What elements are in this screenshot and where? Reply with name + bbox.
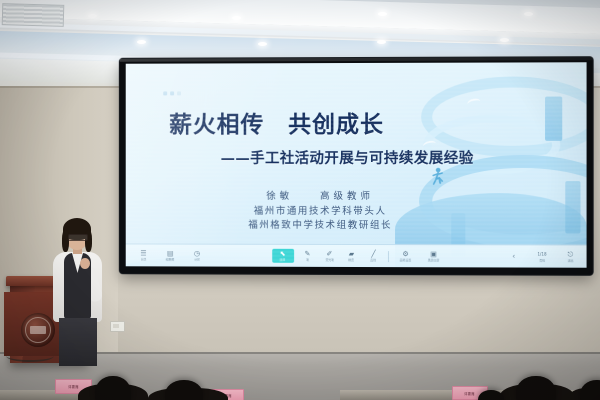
pillar-shape [565,181,580,233]
glasses-icon [68,234,88,241]
screen-icon[interactable]: ▣黑屏白屏 [423,250,445,262]
lecture-hall-photo: 薪火相传 共创成长 ——手工社活动开展与可持续发展经验 徐敏 高级教师 福州市通… [0,0,600,400]
toolbar-left-group: ☰目录 ▤缩略图 ◷计时 [136,249,205,261]
toolbar-label: 橡皮 [349,258,355,262]
downlight-icon [378,12,387,16]
presenter-hair-side [62,230,69,252]
pen-icon[interactable]: ✎笔 [300,250,316,262]
line-icon[interactable]: ╱直线 [365,250,381,262]
audience-member [580,380,600,400]
presentation-toolbar[interactable]: ☰目录 ▤缩略图 ◷计时 ⬉选择 ✎笔 [126,243,587,267]
toolbar-label: 退出 [567,259,573,263]
toolbar-label: 缩略图 [166,258,175,262]
pillar-shape [545,97,562,141]
placard-text: 评委席 [465,391,476,396]
list-icon[interactable]: ☰目录 [136,249,152,261]
downlight-icon [377,40,386,44]
toolbar-right-group: ‹ 1/18 页码 ⎋退出 [506,250,579,262]
toolbar-label: 计时 [194,258,200,262]
slide-title: 薪火相传 共创成长 [169,114,498,137]
toolbar-label: 荧光笔 [325,258,334,262]
presenter-role-2: 福州格致中学技术组教研组长 [171,219,470,234]
prev-icon[interactable]: ‹ [506,252,522,260]
grid-icon[interactable]: ▤缩略图 [162,249,178,261]
downlight-icon [88,14,97,18]
exit-icon[interactable]: ⎋退出 [562,251,578,263]
downlight-icon [500,38,509,42]
toolbar-label: 目录 [141,258,147,262]
toolbar-label: 黑屏白屏 [428,258,440,262]
light-switch[interactable] [110,321,125,332]
cursor-icon[interactable]: ⬉选择 [272,249,294,263]
presenter-name: 徐敏 高级教师 [171,190,470,205]
toolbar-label: 直线 [371,258,377,262]
audience-member [95,376,131,400]
slide-subtitle: ——手工社活动开展与可持续发展经验 [221,147,474,168]
downlight-icon [232,16,241,20]
placard-text: 评委席 [68,384,79,389]
page-indicator[interactable]: 1/18 页码 [531,250,553,262]
settings-icon[interactable]: ⚙画笔设置 [394,250,416,262]
audience-area: 评委席 评委席 评委席 [0,352,600,400]
presenter-role-1: 福州市通用技术学科带头人 [171,204,470,219]
presentation-screen[interactable]: 薪火相传 共创成长 ——手工社活动开展与可持续发展经验 徐敏 高级教师 福州市通… [126,62,587,267]
downlight-icon [137,40,146,44]
runner-icon [431,167,444,189]
downlight-icon [524,12,533,16]
audience-member [516,376,556,400]
bezel-highlight [120,57,593,62]
page-number: 1/18 [537,250,546,258]
timer-icon[interactable]: ◷计时 [189,250,205,262]
downlight-icon [258,42,267,46]
toolbar-divider [387,251,388,262]
presenter [47,218,109,363]
wall-display: 薪火相传 共创成长 ——手工社活动开展与可持续发展经验 徐敏 高级教师 福州市通… [120,57,593,275]
toolbar-label: 笔 [306,258,309,262]
slide-presenter-block: 徐敏 高级教师 福州市通用技术学科带头人 福州格致中学技术组教研组长 [171,190,470,235]
eraser-icon[interactable]: ▰橡皮 [343,250,359,262]
toolbar-center-group: ⬉选择 ✎笔 ✐荧光笔 ▰橡皮 ╱直线 [272,249,445,263]
toolbar-label: 选择 [280,258,286,262]
slide-corner-marks [163,91,181,95]
ceiling-vent [2,3,65,27]
highlighter-icon[interactable]: ✐荧光笔 [322,250,338,262]
audience-member [165,380,203,400]
presenter-hand [80,258,90,269]
toolbar-label: 画笔设置 [400,258,412,262]
